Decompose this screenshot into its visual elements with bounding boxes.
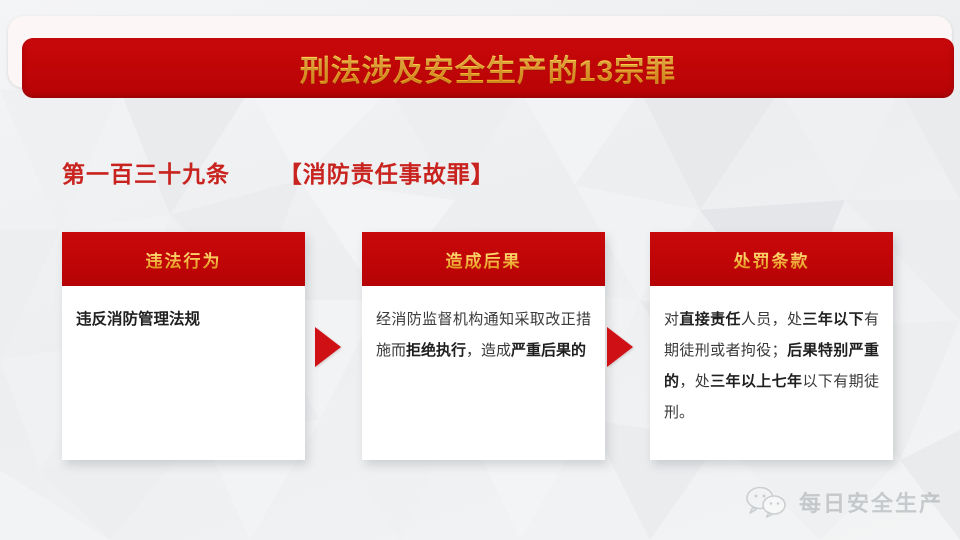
emphasis-text: 三年以下: [802, 311, 864, 328]
arrow-right-icon-1: [315, 327, 341, 367]
card-violation-header-label: 违法行为: [146, 247, 222, 272]
emphasis-text: 严重后果的: [511, 342, 586, 359]
card-penalty-header-label: 处罚条款: [734, 247, 810, 272]
emphasis-text: 拒绝执行: [406, 342, 466, 359]
wechat-icon: [745, 486, 787, 518]
arrow-right-icon-2: [607, 327, 633, 367]
card-penalty-header: 处罚条款: [650, 232, 893, 286]
article-subtitle: 第一百三十九条 【消防责任事故罪】: [62, 155, 495, 189]
card-penalty: 处罚条款 对直接责任人员，处三年以下有期徒刑或者拘役；后果特别严重的，处三年以上…: [650, 232, 893, 460]
watermark-label: 每日安全生产: [799, 486, 943, 518]
card-consequence: 造成后果 经消防监督机构通知采取改正措施而拒绝执行，造成严重后果的: [362, 232, 605, 460]
page-title: 刑法涉及安全生产的13宗罪: [300, 46, 676, 90]
body-text: ，处: [679, 373, 710, 390]
emphasis-text: 三年以上七年: [710, 373, 802, 390]
title-banner: 刑法涉及安全生产的13宗罪: [22, 38, 954, 98]
body-text: 人员，处: [741, 311, 803, 328]
card-consequence-header: 造成后果: [362, 232, 605, 286]
card-penalty-body: 对直接责任人员，处三年以下有期徒刑或者拘役；后果特别严重的，处三年以上七年以下有…: [650, 286, 893, 438]
slide-canvas: 刑法涉及安全生产的13宗罪 第一百三十九条 【消防责任事故罪】 违法行为 违反消…: [0, 0, 960, 540]
body-text: ，造成: [466, 342, 511, 359]
card-consequence-body: 经消防监督机构通知采取改正措施而拒绝执行，造成严重后果的: [362, 286, 605, 376]
body-text: 对: [664, 311, 679, 328]
article-number: 第一百三十九条: [62, 161, 230, 187]
card-violation-body: 违反消防管理法规: [62, 286, 305, 345]
crime-name: 【消防责任事故罪】: [279, 161, 495, 187]
watermark: 每日安全生产: [745, 486, 943, 518]
emphasis-text: 直接责任: [679, 311, 741, 328]
title-banner-frame: 刑法涉及安全生产的13宗罪: [8, 16, 952, 88]
emphasis-text: 违反消防管理法规: [76, 311, 200, 328]
card-violation: 违法行为 违反消防管理法规: [62, 232, 305, 460]
card-violation-header: 违法行为: [62, 232, 305, 286]
card-consequence-header-label: 造成后果: [446, 247, 522, 272]
